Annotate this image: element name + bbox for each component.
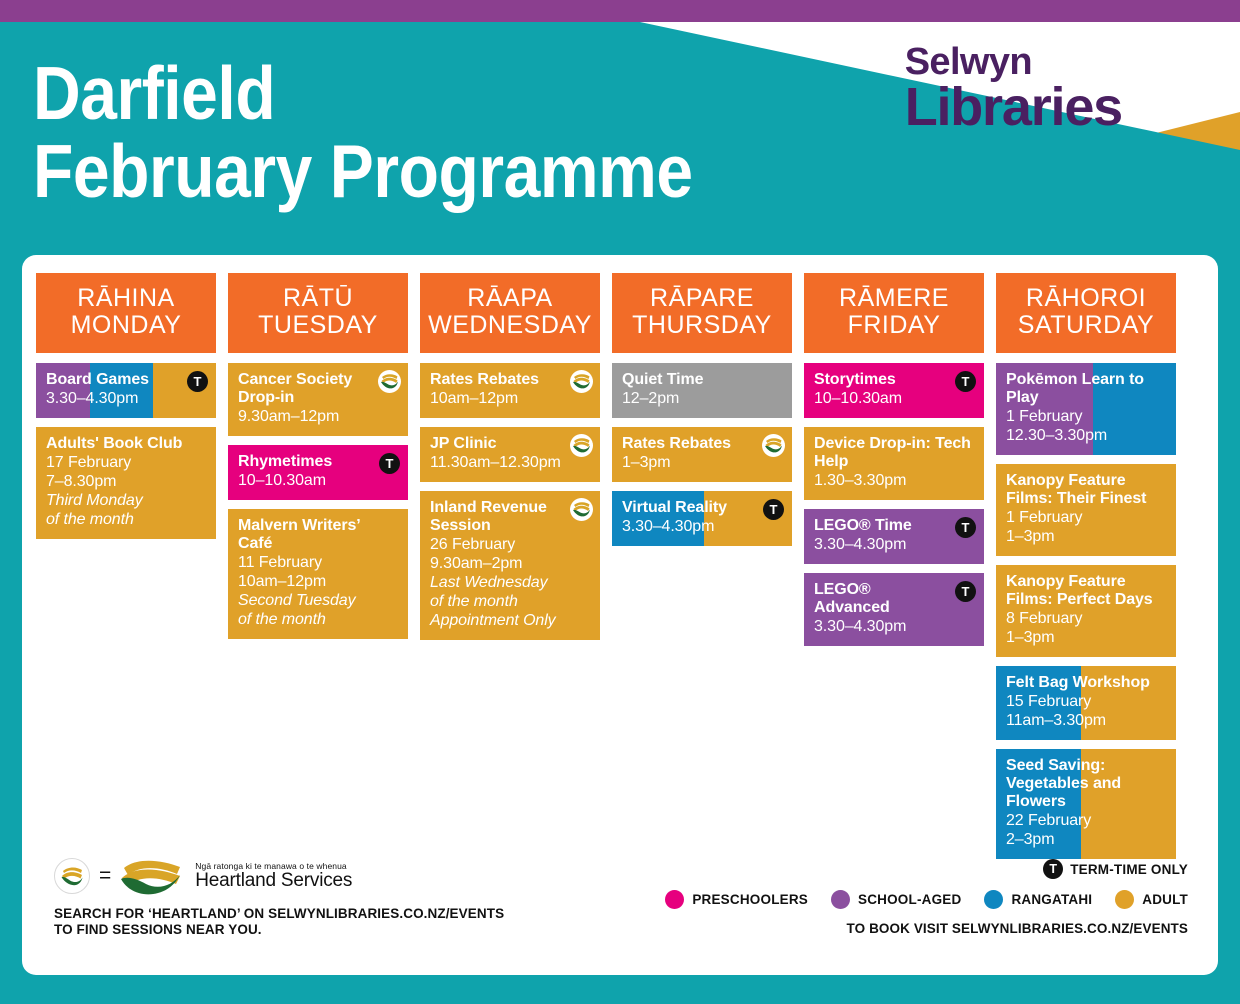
heartland-services-wordmark: Ngā ratonga ki te manawa o te whenua Hea… xyxy=(195,861,352,891)
event-title: LEGO® Advanced xyxy=(814,581,974,617)
search-line-2: TO FIND SESSIONS NEAR YOU. xyxy=(54,922,504,938)
day-name-english: FRIDAY xyxy=(806,312,982,339)
day-name-maori: RĀPARE xyxy=(614,285,790,312)
weekly-programme-grid: RĀHINAMONDAYBoard Games3.30–4.30pmTAdult… xyxy=(36,273,1204,868)
event-card[interactable]: Adults' Book Club17 February7–8.30pmThir… xyxy=(36,427,216,539)
event-card[interactable]: Storytimes10–10.30amT xyxy=(804,363,984,418)
event-detail-line: 26 February xyxy=(430,535,590,554)
event-detail-line: 10–10.30am xyxy=(238,471,398,490)
booking-instructions: TO BOOK VISIT SELWYNLIBRARIES.CO.NZ/EVEN… xyxy=(651,921,1188,936)
event-detail-line: 2–3pm xyxy=(1006,830,1166,849)
event-card-content: Virtual Reality3.30–4.30pm xyxy=(612,491,792,546)
event-detail-line: 3.30–4.30pm xyxy=(622,517,782,536)
footer: = Ngā ratonga ki te manawa o te whenua H… xyxy=(36,855,1204,965)
event-detail-line: 10–10.30am xyxy=(814,389,974,408)
selwyn-libraries-logo: Selwyn Libraries xyxy=(905,44,1122,134)
event-card[interactable]: Quiet Time12–2pm xyxy=(612,363,792,418)
event-detail-line: 22 February xyxy=(1006,811,1166,830)
event-card-content: Adults' Book Club17 February7–8.30pmThir… xyxy=(36,427,216,539)
event-detail-line: 11am–3.30pm xyxy=(1006,711,1166,730)
event-card-content: Rates Rebates1–3pm xyxy=(612,427,792,482)
term-time-badge-icon: T xyxy=(955,517,976,538)
event-title: Felt Bag Workshop xyxy=(1006,674,1166,692)
page-header: Darfield February Programme Selwyn Libra… xyxy=(0,22,1240,255)
day-header-monday: RĀHINAMONDAY xyxy=(36,273,216,353)
event-detail-line: 1–3pm xyxy=(622,453,782,472)
event-card-content: Quiet Time12–2pm xyxy=(612,363,792,418)
event-note-line: of the month xyxy=(46,510,206,529)
day-header-friday: RĀMEREFRIDAY xyxy=(804,273,984,353)
event-card-content: Device Drop-in: Tech Help1.30–3.30pm xyxy=(804,427,984,500)
event-card[interactable]: Cancer Society Drop-in9.30am–12pm xyxy=(228,363,408,436)
term-time-badge-icon: T xyxy=(955,581,976,602)
heartland-services-badge-icon xyxy=(570,434,593,457)
event-detail-line: 12.30–3.30pm xyxy=(1006,426,1166,445)
equals-sign: = xyxy=(99,864,111,888)
heartland-swoosh-icon xyxy=(60,866,84,886)
day-name-maori: RĀAPA xyxy=(422,285,598,312)
event-detail-line: 3.30–4.30pm xyxy=(46,389,206,408)
event-title: Adults' Book Club xyxy=(46,435,206,453)
heartland-services-badge-icon xyxy=(378,370,401,393)
day-header-thursday: RĀPARETHURSDAY xyxy=(612,273,792,353)
event-card-content: Pokēmon Learn to Play1 February12.30–3.3… xyxy=(996,363,1176,455)
day-name-english: TUESDAY xyxy=(230,312,406,339)
event-title: Quiet Time xyxy=(622,371,782,389)
event-detail-line: 3.30–4.30pm xyxy=(814,617,974,636)
event-card-content: Kanopy Feature Films: Perfect Days8 Febr… xyxy=(996,565,1176,657)
day-column-thursday: RĀPARETHURSDAYQuiet Time12–2pmRates Reba… xyxy=(612,273,792,868)
term-time-badge-icon: T xyxy=(763,499,784,520)
legend-colour-dot xyxy=(665,890,684,909)
event-card[interactable]: Virtual Reality3.30–4.30pmT xyxy=(612,491,792,546)
day-name-maori: RĀHINA xyxy=(38,285,214,312)
event-title: Board Games xyxy=(46,371,206,389)
event-card-content: Felt Bag Workshop15 February11am–3.30pm xyxy=(996,666,1176,740)
event-card-content: Rhymetimes10–10.30am xyxy=(228,445,408,500)
event-card[interactable]: Kanopy Feature Films: Perfect Days8 Febr… xyxy=(996,565,1176,657)
event-detail-line: 10am–12pm xyxy=(430,389,590,408)
day-header-saturday: RĀHOROISATURDAY xyxy=(996,273,1176,353)
event-note-line: of the month xyxy=(430,592,590,611)
event-card[interactable]: Inland Revenue Session26 February9.30am–… xyxy=(420,491,600,640)
page-title: Darfield February Programme xyxy=(33,54,693,210)
event-detail-line: 1–3pm xyxy=(1006,527,1166,546)
top-accent-bar xyxy=(0,0,1240,22)
event-detail-line: 1–3pm xyxy=(1006,628,1166,647)
event-detail-line: 1.30–3.30pm xyxy=(814,471,974,490)
legend-colour-dot xyxy=(984,890,1003,909)
day-header-wednesday: RĀAPAWEDNESDAY xyxy=(420,273,600,353)
event-note-line: Appointment Only xyxy=(430,611,590,630)
event-title: Storytimes xyxy=(814,371,974,389)
event-card[interactable]: Rates Rebates1–3pm xyxy=(612,427,792,482)
heartland-services-logo-icon xyxy=(120,857,186,895)
event-card[interactable]: Rhymetimes10–10.30amT xyxy=(228,445,408,500)
legend-item: ADULT xyxy=(1115,890,1188,909)
event-note-line: Second Tuesday xyxy=(238,591,398,610)
event-card-content: Kanopy Feature Films: Their Finest1 Febr… xyxy=(996,464,1176,556)
event-detail-line: 7–8.30pm xyxy=(46,472,206,491)
legend-label: RANGATAHI xyxy=(1011,892,1092,907)
heartland-services-badge-icon xyxy=(570,498,593,521)
event-card-content: Malvern Writers’ Café11 February10am–12p… xyxy=(228,509,408,639)
term-time-badge-icon: T xyxy=(1043,859,1063,879)
event-card-content: Rates Rebates10am–12pm xyxy=(420,363,600,418)
event-title: Cancer Society Drop-in xyxy=(238,371,398,407)
legend-item: RANGATAHI xyxy=(984,890,1092,909)
event-title: Rates Rebates xyxy=(430,371,590,389)
event-detail-line: 11 February xyxy=(238,553,398,572)
event-card[interactable]: JP Clinic11.30am–12.30pm xyxy=(420,427,600,482)
legend-label: PRESCHOOLERS xyxy=(692,892,808,907)
event-card[interactable]: Malvern Writers’ Café11 February10am–12p… xyxy=(228,509,408,639)
audience-colour-key: PRESCHOOLERSSCHOOL-AGEDRANGATAHIADULT xyxy=(651,890,1188,909)
event-detail-line: 11.30am–12.30pm xyxy=(430,453,590,472)
event-card-content: Storytimes10–10.30am xyxy=(804,363,984,418)
event-title: Kanopy Feature Films: Their Finest xyxy=(1006,472,1166,508)
event-detail-line: 1 February xyxy=(1006,508,1166,527)
legend-colour-dot xyxy=(831,890,850,909)
day-name-maori: RĀMERE xyxy=(806,285,982,312)
day-header-tuesday: RĀTŪTUESDAY xyxy=(228,273,408,353)
event-detail-line: 1 February xyxy=(1006,407,1166,426)
heartland-legend: = Ngā ratonga ki te manawa o te whenua H… xyxy=(54,857,504,938)
day-column-monday: RĀHINAMONDAYBoard Games3.30–4.30pmTAdult… xyxy=(36,273,216,868)
term-time-badge-icon: T xyxy=(187,371,208,392)
day-column-saturday: RĀHOROISATURDAYPokēmon Learn to Play1 Fe… xyxy=(996,273,1176,868)
event-detail-line: 10am–12pm xyxy=(238,572,398,591)
legend-item: PRESCHOOLERS xyxy=(665,890,808,909)
event-card[interactable]: LEGO® Time3.30–4.30pmT xyxy=(804,509,984,564)
day-column-wednesday: RĀAPAWEDNESDAYRates Rebates10am–12pmJP C… xyxy=(420,273,600,868)
event-detail-line: 12–2pm xyxy=(622,389,782,408)
audience-legend: T TERM-TIME ONLY PRESCHOOLERSSCHOOL-AGED… xyxy=(651,859,1188,936)
event-detail-line: 3.30–4.30pm xyxy=(814,535,974,554)
logo-line-selwyn: Selwyn xyxy=(905,44,1122,80)
event-detail-line: 8 February xyxy=(1006,609,1166,628)
day-name-maori: RĀTŪ xyxy=(230,285,406,312)
event-title: Rhymetimes xyxy=(238,453,398,471)
event-card[interactable]: LEGO® Advanced3.30–4.30pmT xyxy=(804,573,984,646)
legend-item: SCHOOL-AGED xyxy=(831,890,961,909)
event-detail-line: 17 February xyxy=(46,453,206,472)
heartland-name: Heartland Services xyxy=(195,871,352,891)
day-column-friday: RĀMEREFRIDAYStorytimes10–10.30amTDevice … xyxy=(804,273,984,868)
day-name-english: SATURDAY xyxy=(998,312,1174,339)
legend-label: SCHOOL-AGED xyxy=(858,892,961,907)
logo-line-libraries: Libraries xyxy=(905,80,1122,134)
term-time-legend: T TERM-TIME ONLY xyxy=(651,859,1188,879)
day-name-english: MONDAY xyxy=(38,312,214,339)
term-time-badge-icon: T xyxy=(379,453,400,474)
event-title: Inland Revenue Session xyxy=(430,499,590,535)
event-card[interactable]: Seed Saving: Vegetables and Flowers22 Fe… xyxy=(996,749,1176,859)
event-title: Kanopy Feature Films: Perfect Days xyxy=(1006,573,1166,609)
day-name-english: THURSDAY xyxy=(614,312,790,339)
event-card[interactable]: Felt Bag Workshop15 February11am–3.30pm xyxy=(996,666,1176,740)
event-detail-line: 9.30am–2pm xyxy=(430,554,590,573)
event-title: Pokēmon Learn to Play xyxy=(1006,371,1166,407)
event-card[interactable]: Kanopy Feature Films: Their Finest1 Febr… xyxy=(996,464,1176,556)
heartland-services-badge-icon xyxy=(762,434,785,457)
event-card[interactable]: Device Drop-in: Tech Help1.30–3.30pm xyxy=(804,427,984,500)
event-title: Rates Rebates xyxy=(622,435,782,453)
day-column-tuesday: RĀTŪTUESDAYCancer Society Drop-in9.30am–… xyxy=(228,273,408,868)
legend-colour-dot xyxy=(1115,890,1134,909)
event-card-content: LEGO® Time3.30–4.30pm xyxy=(804,509,984,564)
programme-panel: RĀHINAMONDAYBoard Games3.30–4.30pmTAdult… xyxy=(22,255,1218,975)
term-time-badge-icon: T xyxy=(955,371,976,392)
event-note-line: Third Monday xyxy=(46,491,206,510)
event-card-content: JP Clinic11.30am–12.30pm xyxy=(420,427,600,482)
event-title: JP Clinic xyxy=(430,435,590,453)
event-card[interactable]: Board Games3.30–4.30pmT xyxy=(36,363,216,418)
event-title: Virtual Reality xyxy=(622,499,782,517)
event-card[interactable]: Pokēmon Learn to Play1 February12.30–3.3… xyxy=(996,363,1176,455)
event-detail-line: 15 February xyxy=(1006,692,1166,711)
legend-label: ADULT xyxy=(1142,892,1188,907)
heartland-icon xyxy=(54,858,90,894)
event-title: Seed Saving: Vegetables and Flowers xyxy=(1006,757,1166,811)
event-note-line: Last Wednesday xyxy=(430,573,590,592)
day-name-maori: RĀHOROI xyxy=(998,285,1174,312)
event-card[interactable]: Rates Rebates10am–12pm xyxy=(420,363,600,418)
event-title: LEGO® Time xyxy=(814,517,974,535)
event-card-content: Seed Saving: Vegetables and Flowers22 Fe… xyxy=(996,749,1176,859)
day-name-english: WEDNESDAY xyxy=(422,312,598,339)
search-line-1: SEARCH FOR ‘HEARTLAND’ ON SELWYNLIBRARIE… xyxy=(54,906,504,922)
heartland-services-badge-icon xyxy=(570,370,593,393)
term-time-label: TERM-TIME ONLY xyxy=(1070,862,1188,877)
event-card-content: Board Games3.30–4.30pm xyxy=(36,363,216,418)
heartland-search-instructions: SEARCH FOR ‘HEARTLAND’ ON SELWYNLIBRARIE… xyxy=(54,906,504,938)
event-title: Malvern Writers’ Café xyxy=(238,517,398,553)
event-note-line: of the month xyxy=(238,610,398,629)
event-title: Device Drop-in: Tech Help xyxy=(814,435,974,471)
event-detail-line: 9.30am–12pm xyxy=(238,407,398,426)
